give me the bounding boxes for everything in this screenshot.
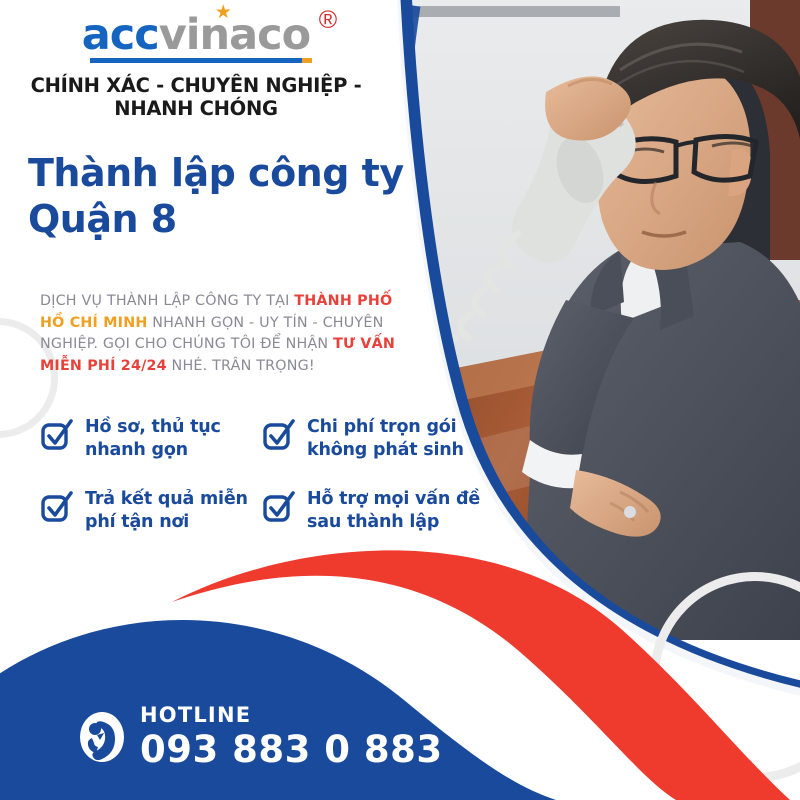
- feature-2-line1: Chi phí trọn gói: [307, 417, 456, 437]
- feature-item-2: Chi phí trọn gói không phát sinh: [262, 416, 484, 488]
- feature-item-3: Trả kết quả miễn phí tận nơi: [40, 488, 262, 560]
- feature-2-line2: không phát sinh: [307, 440, 464, 460]
- feature-item-4: Hỗ trợ mọi vấn đề sau thành lập: [262, 488, 484, 560]
- checkbox-check-icon: [262, 418, 296, 457]
- hotline-number[interactable]: 093 883 0 883: [140, 731, 443, 768]
- checkbox-check-icon: [40, 490, 74, 529]
- service-description: DỊCH VỤ THÀNH LẬP CÔNG TY TẠI THÀNH PHỐ …: [40, 291, 412, 378]
- registered-trademark-icon: ®: [319, 8, 337, 33]
- hotline-text: HOTLINE 093 883 0 883: [140, 705, 443, 768]
- desc-highlight-ho-chi-minh: HỒ CHÍ MINH: [40, 315, 148, 331]
- promo-banner: ★ accvinaco ® CHÍNH XÁC - CHUYÊN NGHIỆP …: [0, 0, 800, 800]
- feature-label-1: Hồ sơ, thủ tục nhanh gọn: [85, 416, 221, 462]
- page-title-line1: Thành lập công ty: [28, 151, 404, 195]
- feature-list: Hồ sơ, thủ tục nhanh gọn Chi phí trọn gó…: [40, 416, 480, 560]
- hotline-label: HOTLINE: [140, 703, 251, 727]
- page-title-line2: Quận 8: [28, 196, 408, 242]
- feature-3-line1: Trả kết quả miễn: [85, 489, 248, 509]
- logo-mark: ★ accvinaco ®: [82, 14, 310, 63]
- feature-label-4: Hỗ trợ mọi vấn đề sau thành lập: [307, 488, 480, 534]
- feature-item-1: Hồ sơ, thủ tục nhanh gọn: [40, 416, 262, 488]
- logo-underline-bar: [90, 58, 302, 63]
- checkbox-check-icon: [262, 490, 296, 529]
- feature-4-line1: Hỗ trợ mọi vấn đề: [307, 489, 480, 509]
- brand-tagline: CHÍNH XÁC - CHUYÊN NGHIỆP - NHANH CHÓNG: [0, 74, 392, 120]
- desc-segment-6: NHÉ. TRÂN TRỌNG!: [167, 358, 315, 374]
- desc-segment-1: DỊCH VỤ THÀNH LẬP CÔNG TY TẠI: [40, 293, 294, 309]
- brand-logo: ★ accvinaco ® CHÍNH XÁC - CHUYÊN NGHIỆP …: [0, 14, 392, 120]
- feature-label-3: Trả kết quả miễn phí tận nơi: [85, 488, 248, 534]
- feature-4-line2: sau thành lập: [307, 512, 439, 532]
- logo-text-acc: acc: [82, 14, 159, 57]
- desc-highlight-thanh-pho: THÀNH PHỐ: [294, 293, 392, 309]
- feature-3-line2: phí tận nơi: [85, 512, 189, 532]
- star-icon: ★: [215, 3, 232, 22]
- feature-1-line1: Hồ sơ, thủ tục: [85, 417, 221, 437]
- hotline-block[interactable]: HOTLINE 093 883 0 883: [78, 705, 443, 768]
- feature-1-line2: nhanh gọn: [85, 440, 188, 460]
- page-title: Thành lập công ty Quận 8: [28, 150, 408, 243]
- phone-handset-icon: [78, 711, 126, 763]
- checkbox-check-icon: [40, 418, 74, 457]
- logo-text-vinaco: vinaco: [159, 14, 310, 57]
- feature-label-2: Chi phí trọn gói không phát sinh: [307, 416, 464, 462]
